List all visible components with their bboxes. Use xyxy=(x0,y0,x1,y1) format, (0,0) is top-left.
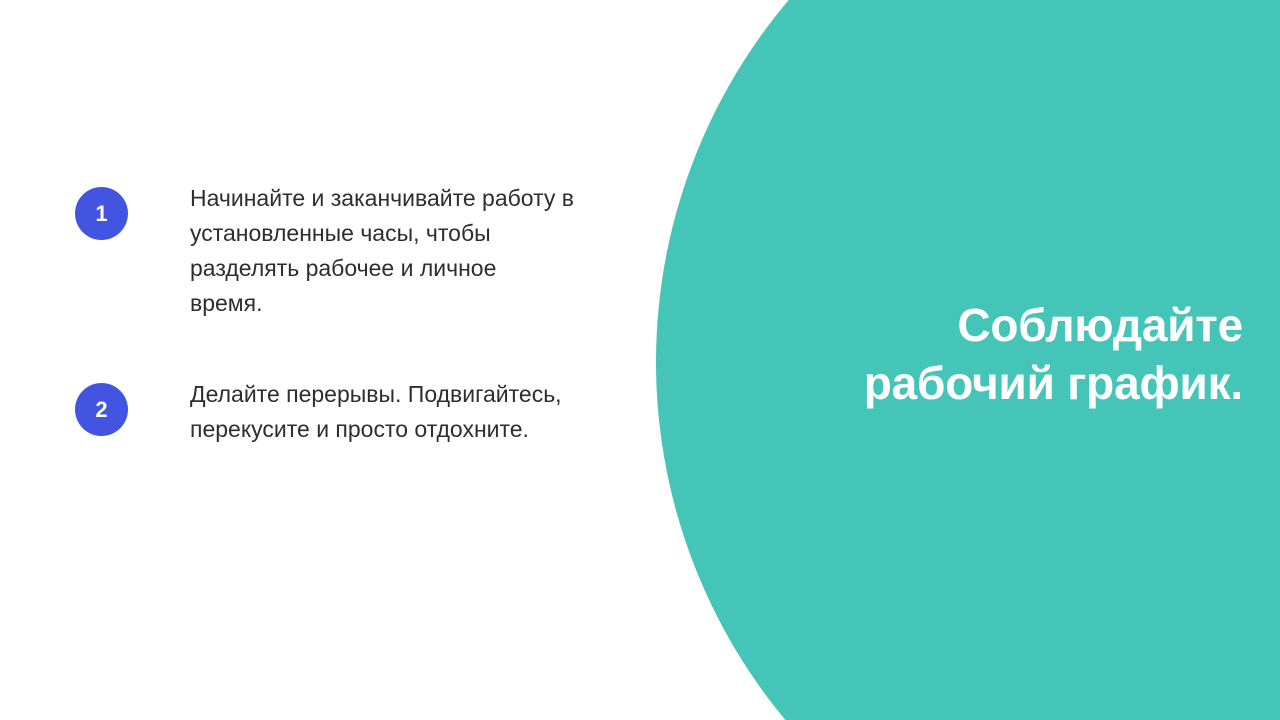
list-item-text: Делайте перерывы. Подвигайтесь, перекуси… xyxy=(190,377,575,447)
list-item-text: Начинайте и заканчивайте работу в устано… xyxy=(190,181,575,321)
list-item: 1 Начинайте и заканчивайте работу в уста… xyxy=(75,187,575,239)
list-item-number-badge: 1 xyxy=(75,187,128,240)
slide-headline: Соблюдайте рабочий график. xyxy=(743,296,1243,412)
list-item-number-badge: 2 xyxy=(75,383,128,436)
numbered-list: 1 Начинайте и заканчивайте работу в уста… xyxy=(75,187,575,435)
list-item: 2 Делайте перерывы. Подвигайтесь, переку… xyxy=(75,383,575,435)
slide-canvas: Соблюдайте рабочий график. 1 Начинайте и… xyxy=(0,0,1280,720)
